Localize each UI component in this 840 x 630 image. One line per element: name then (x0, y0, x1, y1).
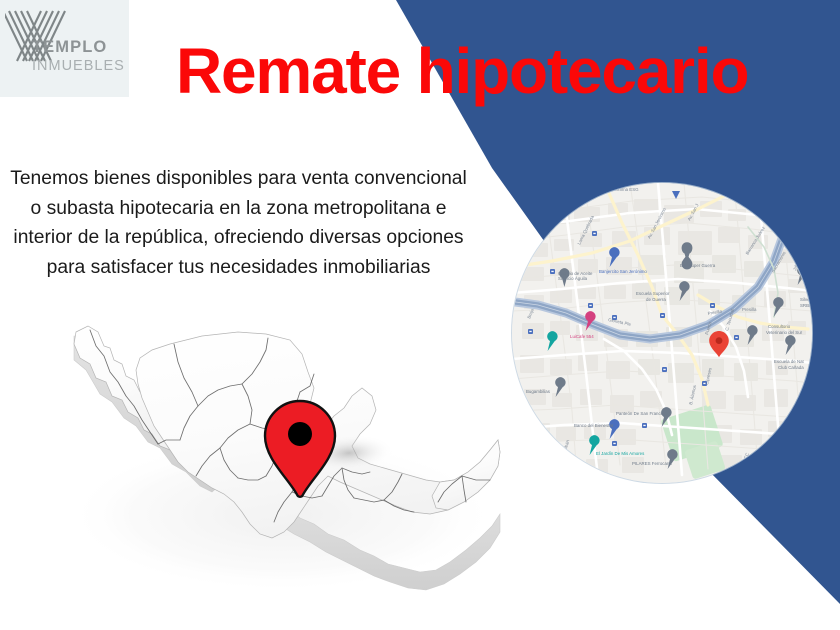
svg-text:Bugambilias: Bugambilias (526, 389, 551, 394)
svg-text:LuiCafe 554: LuiCafe 554 (570, 334, 594, 339)
svg-text:Escuela Superior: Escuela Superior (636, 291, 670, 296)
svg-text:de Guerra: de Guerra (646, 297, 666, 302)
svg-text:Banco del Bienestar: Banco del Bienestar (574, 423, 614, 428)
svg-text:Servicio Águila: Servicio Águila (558, 276, 588, 281)
description-text: Tenemos bienes disponibles para venta co… (6, 164, 471, 282)
brand-name-primary: TEMPLO (32, 38, 125, 57)
street-map-content: Jerónima ESG Av. San Jerónimo Av. San J … (512, 183, 812, 483)
svg-text:Club Cañada: Club Cañada (778, 365, 804, 370)
svg-text:Veterinario del Sur: Veterinario del Sur (766, 330, 803, 335)
mexico-map-graphic (52, 300, 502, 596)
brand-name-secondary: INMUEBLES (32, 57, 125, 75)
svg-text:Panteón De San Francisco: Panteón De San Francisco (616, 411, 669, 416)
page-title: Remate hipotecario (176, 36, 826, 106)
brand-logo[interactable]: TEMPLO INMUEBLES (0, 0, 129, 97)
svg-text:Presilla: Presilla (742, 307, 757, 312)
svg-text:Escuela de Nat: Escuela de Nat (774, 359, 805, 364)
svg-text:Banjercito San Jerónimo: Banjercito San Jerónimo (599, 269, 647, 274)
svg-text:Esc Super Guerra: Esc Super Guerra (680, 263, 716, 268)
street-map-inset[interactable]: .lbl{font-family:"Liberation Sans",sans-… (512, 183, 812, 483)
svg-text:PILARES Ferrocarril: PILARES Ferrocarril (632, 461, 672, 466)
brand-logo-wordmark: TEMPLO INMUEBLES (32, 38, 125, 75)
svg-text:El Jardín De Mis Amores: El Jardín De Mis Amores (596, 451, 645, 456)
slide-canvas: .lbl{font-family:"Liberation Sans",sans-… (0, 0, 840, 630)
svg-text:Consultorio: Consultorio (768, 324, 791, 329)
